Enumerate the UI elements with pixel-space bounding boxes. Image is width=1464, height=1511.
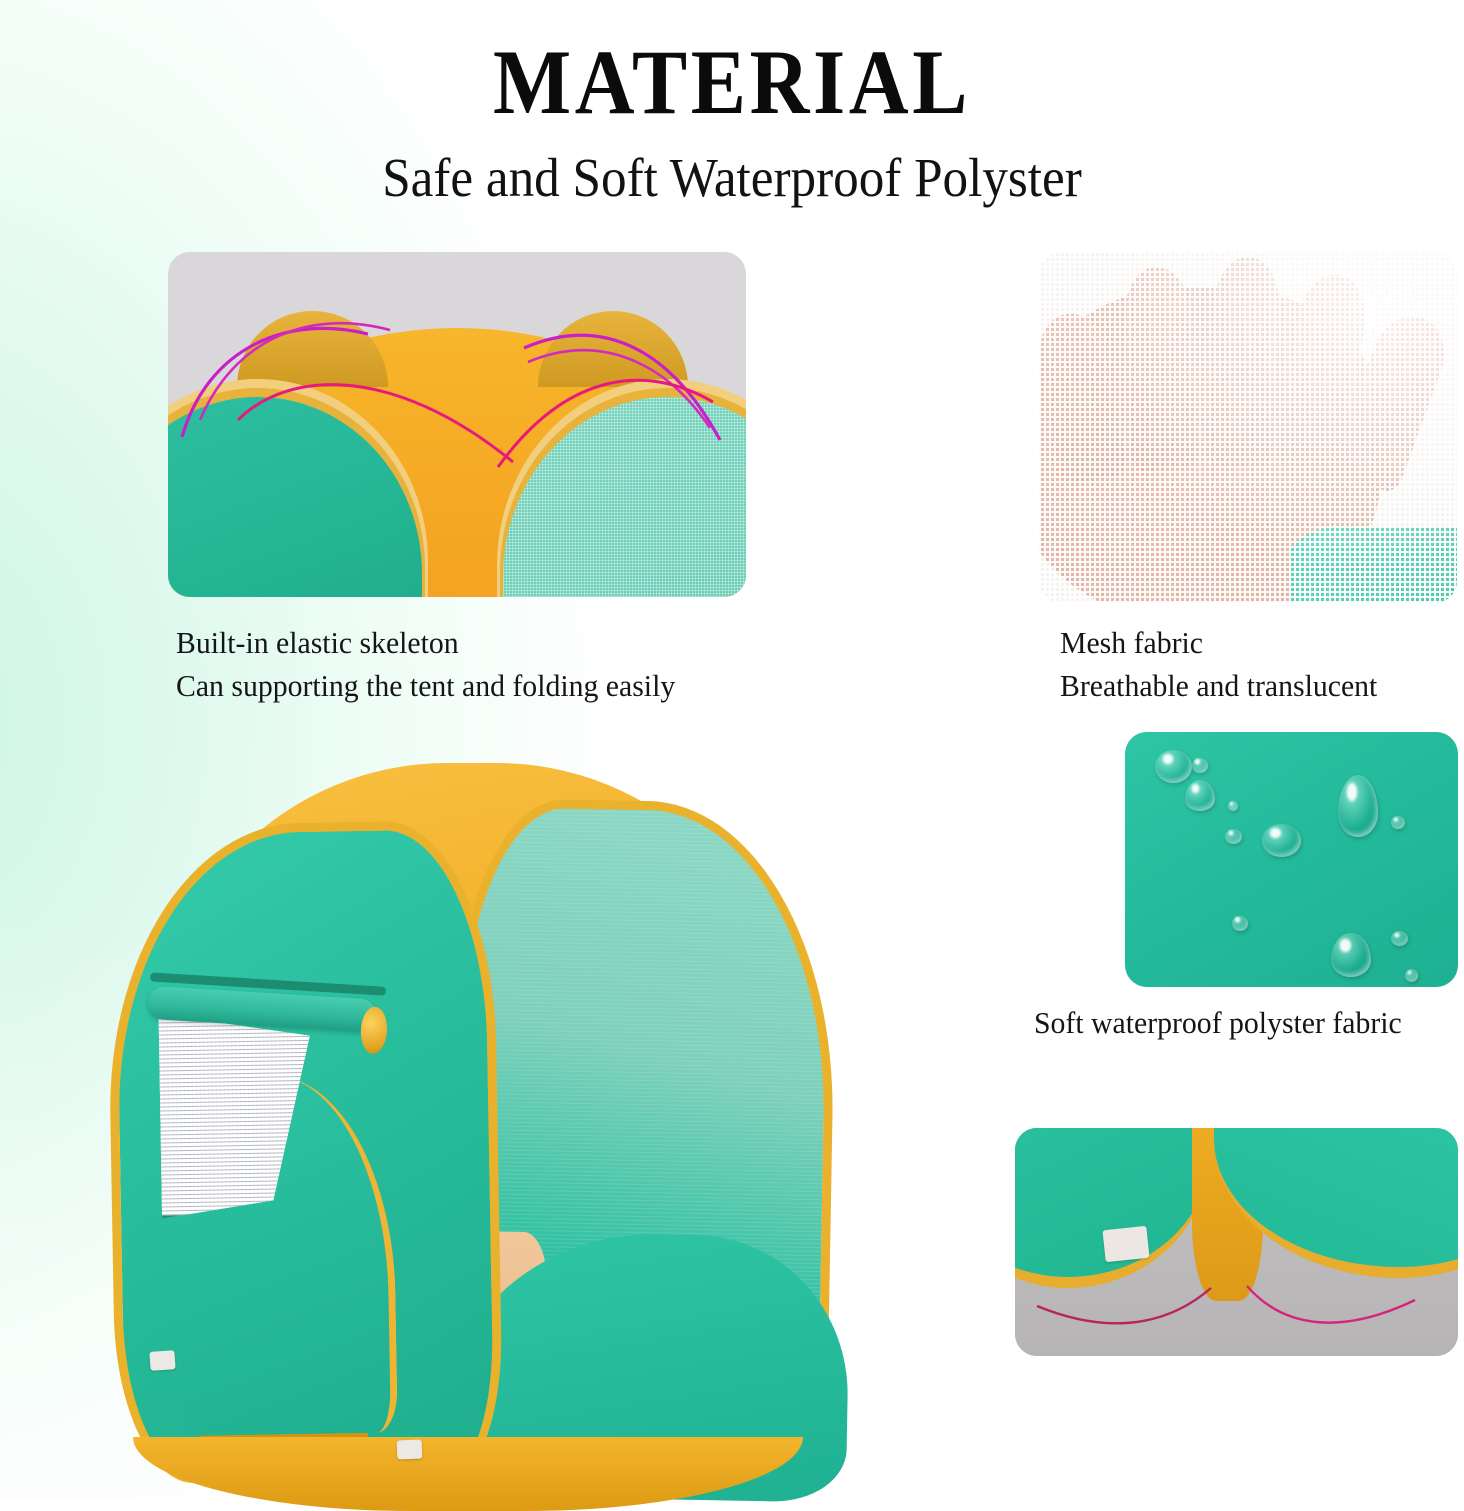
elastic-skeleton-arc-overlay xyxy=(168,252,746,597)
page-title: MATERIAL xyxy=(73,36,1391,128)
water-droplet xyxy=(1331,933,1371,976)
water-droplet xyxy=(1185,780,1215,811)
tent-panel-right xyxy=(447,798,838,1485)
water-droplet xyxy=(1338,775,1378,836)
feature-image-tent-edge xyxy=(1015,1128,1458,1356)
edge-skeleton-arc-overlay xyxy=(1015,1128,1458,1356)
water-droplet xyxy=(1405,969,1418,982)
water-droplet xyxy=(1155,750,1192,783)
caption-mesh: Mesh fabric Breathable and translucent xyxy=(1060,622,1377,708)
feature-image-waterproof xyxy=(1125,732,1458,987)
water-droplet xyxy=(1228,801,1238,811)
page-subtitle: Safe and Soft Waterproof Polyster xyxy=(51,150,1413,205)
velcro-square-left xyxy=(149,1350,176,1371)
tent-roll-knob xyxy=(360,1006,388,1055)
main-product-image xyxy=(96,756,840,1504)
water-droplet xyxy=(1192,758,1209,773)
caption-skeleton: Built-in elastic skeleton Can supporting… xyxy=(176,622,675,708)
feature-image-skeleton xyxy=(168,252,746,597)
header: MATERIAL Safe and Soft Waterproof Polyst… xyxy=(0,0,1464,205)
tent-panel-left xyxy=(105,820,503,1485)
water-droplet xyxy=(1391,816,1404,829)
mesh-highlight xyxy=(1039,253,1457,603)
water-droplet xyxy=(1391,931,1408,946)
velcro-square-bottom xyxy=(397,1440,423,1460)
water-droplet xyxy=(1262,824,1302,857)
water-droplet xyxy=(1225,829,1242,844)
caption-waterproof: Soft waterproof polyster fabric xyxy=(1034,1002,1402,1045)
feature-image-mesh xyxy=(1039,253,1457,603)
water-droplet xyxy=(1232,916,1249,931)
